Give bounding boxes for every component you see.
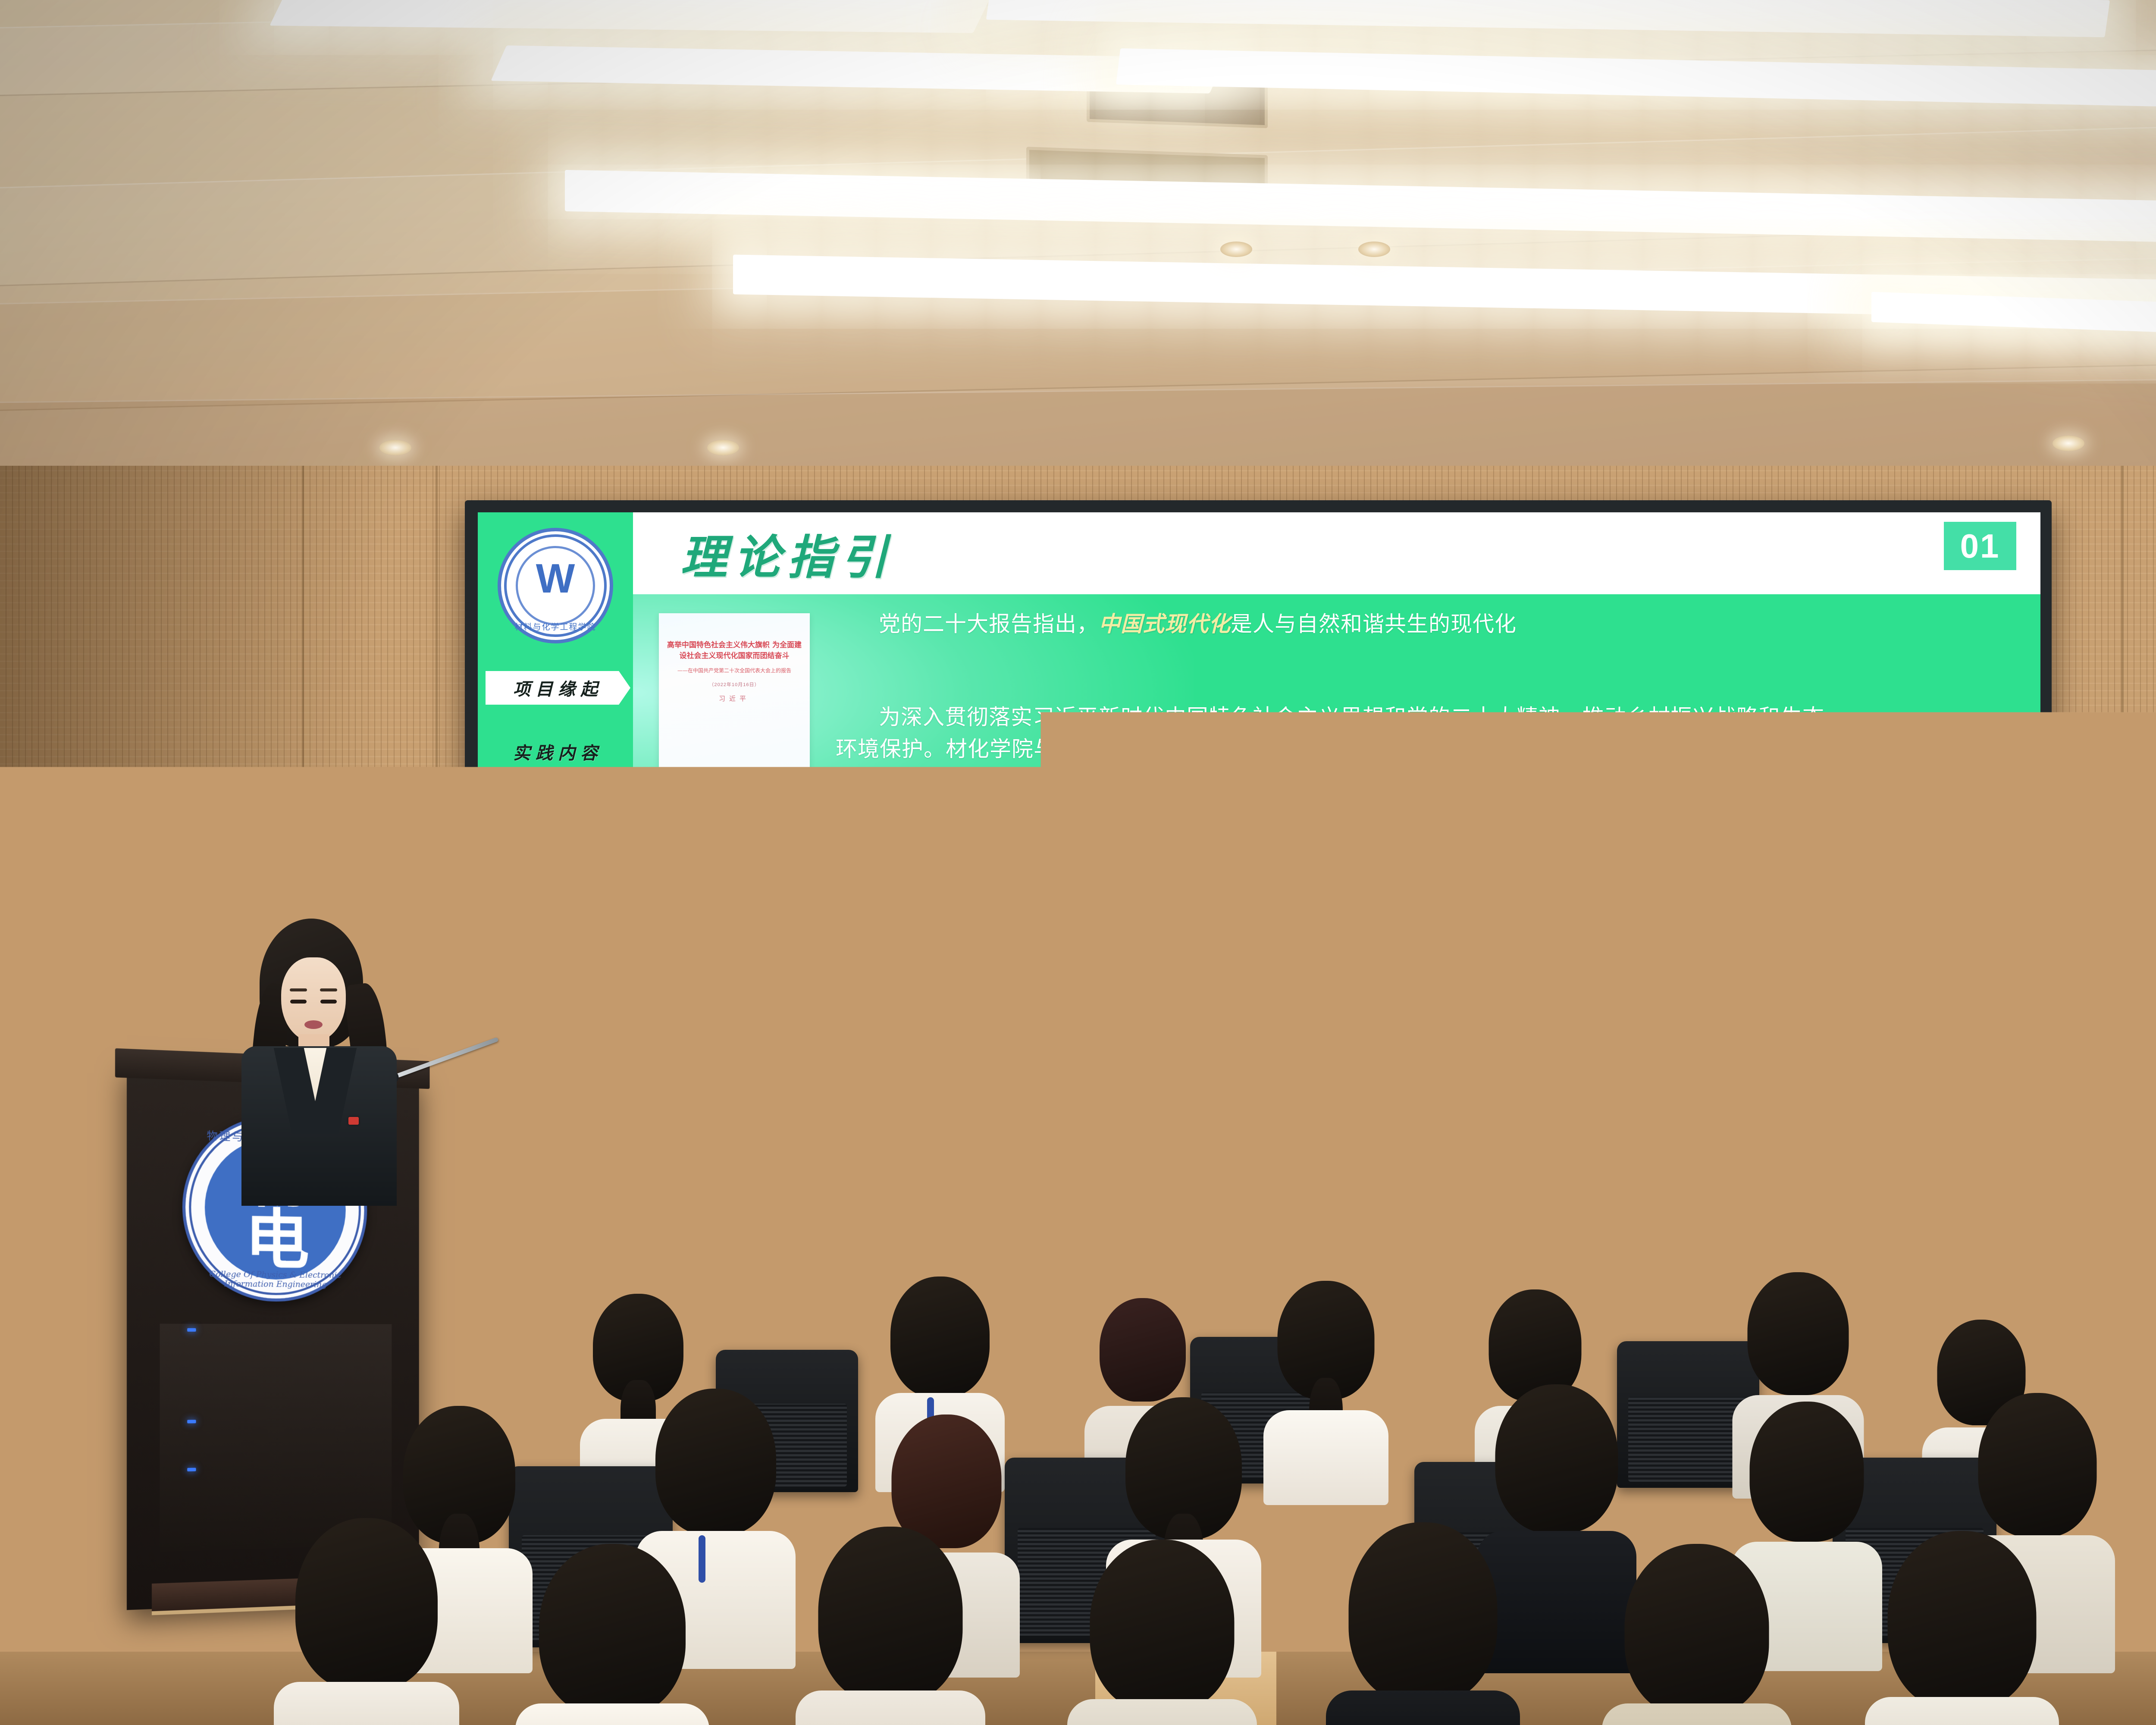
sidebar-item-label: 项目缘起 <box>513 675 603 700</box>
paragraph-highlight: 中国式现代化 <box>1099 611 1231 637</box>
ceiling-downlight <box>2053 436 2084 451</box>
audience-member <box>1263 1281 1388 1479</box>
report-author: 习近平 <box>665 694 804 703</box>
slide-title: 理论指引 <box>680 520 894 587</box>
slide-header: 理论指引 01 <box>633 512 2040 594</box>
logo-mark-glyph: W <box>536 558 575 599</box>
audience-member <box>1328 1522 1518 1725</box>
status-led-icon <box>73 1114 79 1120</box>
ceiling-downlight <box>1220 241 1252 257</box>
sidebar-item-reflections[interactable]: 收获感悟 <box>486 861 630 891</box>
audience-member <box>798 1527 983 1725</box>
report-title-line2: ——在中国共产党第二十次全国代表大会上的报告 <box>665 667 804 674</box>
slide-canvas: W 材料与化学工程学院 项目缘起 实践内容 成果展示 收获感悟 理论指引 <box>478 512 2040 1229</box>
report-title-line1: 高举中国特色社会主义伟大旗帜 为全面建设社会主义现代化国家而团结奋斗 <box>665 640 804 661</box>
blue-banner <box>1720 1175 1857 1201</box>
power-indicator-icon <box>31 1107 52 1128</box>
ceiling-downlight <box>1358 241 1390 257</box>
eye <box>320 1000 337 1004</box>
section-number-label: 01 <box>1960 527 2000 566</box>
report-date: （2022年10月16日） <box>665 681 804 688</box>
eyebrow <box>290 988 307 991</box>
sidebar-item-label: 收获感悟 <box>513 863 603 888</box>
red-banner <box>1191 1172 1303 1198</box>
presentation-display[interactable]: W 材料与化学工程学院 项目缘起 实践内容 成果展示 收获感悟 理论指引 <box>465 500 2052 1242</box>
eyebrow <box>320 988 337 991</box>
red-banner <box>893 1173 1014 1200</box>
status-led-icon <box>100 1114 107 1120</box>
ceiling <box>0 0 2156 509</box>
eye <box>290 1000 307 1004</box>
rock-calligraphy-line1: 青山绿水 <box>1182 1100 1246 1119</box>
party-emblem-pin-icon <box>348 1117 359 1125</box>
storage-tank <box>1651 1087 1772 1154</box>
college-logo: W 材料与化学工程学院 <box>498 528 613 643</box>
lecture-hall-scene: W 材料与化学工程学院 项目缘起 实践内容 成果展示 收获感悟 理论指引 <box>0 0 2156 1725</box>
presenter <box>233 919 405 1195</box>
paragraph-prefix: 党的二十大报告指出， <box>879 612 1099 636</box>
sidebar-item-results-display[interactable]: 成果展示 <box>486 799 630 829</box>
ceiling-downlight <box>379 440 411 455</box>
photo-chemical-plant <box>1574 1076 2004 1210</box>
audience-area <box>0 1199 2156 1725</box>
presenter-face <box>281 957 346 1042</box>
sidebar-item-label: 成果展示 <box>513 801 603 826</box>
mouth <box>304 1020 323 1029</box>
paragraph-highlight: 三明市将乐县 <box>1576 736 1708 762</box>
tree <box>1478 1079 1547 1110</box>
led-marquee <box>739 1091 1031 1111</box>
report-cover-thumbnail: 高举中国特色社会主义伟大旗帜 为全面建设社会主义现代化国家而团结奋斗 ——在中国… <box>659 613 810 786</box>
audience-member <box>1069 1540 1255 1725</box>
status-led-icon <box>87 1114 93 1120</box>
section-number-badge: 01 <box>1944 522 2016 570</box>
audience-member <box>276 1518 457 1725</box>
logo-ring-text-cn: 材料与化学工程学院 <box>498 621 613 632</box>
slide-sidebar: W 材料与化学工程学院 项目缘起 实践内容 成果展示 收获感悟 <box>478 512 633 1229</box>
red-banner <box>722 1173 855 1200</box>
distillation-column <box>1806 1112 1827 1150</box>
ceiling-downlight <box>707 440 739 455</box>
sidebar-item-label: 实践内容 <box>513 739 603 764</box>
photo-village-service-center <box>670 1076 1100 1210</box>
red-banner <box>1354 1172 1479 1198</box>
status-led-icon <box>114 1114 120 1120</box>
sidebar-item-project-origin[interactable]: 项目缘起 <box>486 671 630 705</box>
body-paragraph-2: 为深入贯彻落实习近平新时代中国特色社会主义思想和党的二十大精神，推动乡村振兴战略… <box>836 701 1840 797</box>
audience-member <box>1867 1531 2057 1725</box>
body-paragraph-1: 党的二十大报告指出，中国式现代化是人与自然和谐共生的现代化 <box>836 608 1840 640</box>
slide-body: 高举中国特色社会主义伟大旗帜 为全面建设社会主义现代化国家而团结奋斗 ——在中国… <box>633 594 2040 1229</box>
photo-inscribed-rock: 青山绿水 是无价之宝 <box>1122 1076 1551 1210</box>
paragraph-suffix: 是人与自然和谐共生的现代化 <box>1231 612 1517 636</box>
rock-calligraphy-line2: 是无价之宝 <box>1260 1127 1339 1146</box>
audience-member <box>517 1544 707 1725</box>
audience-member <box>1604 1544 1789 1725</box>
sidebar-item-practice-content[interactable]: 实践内容 <box>486 737 630 767</box>
